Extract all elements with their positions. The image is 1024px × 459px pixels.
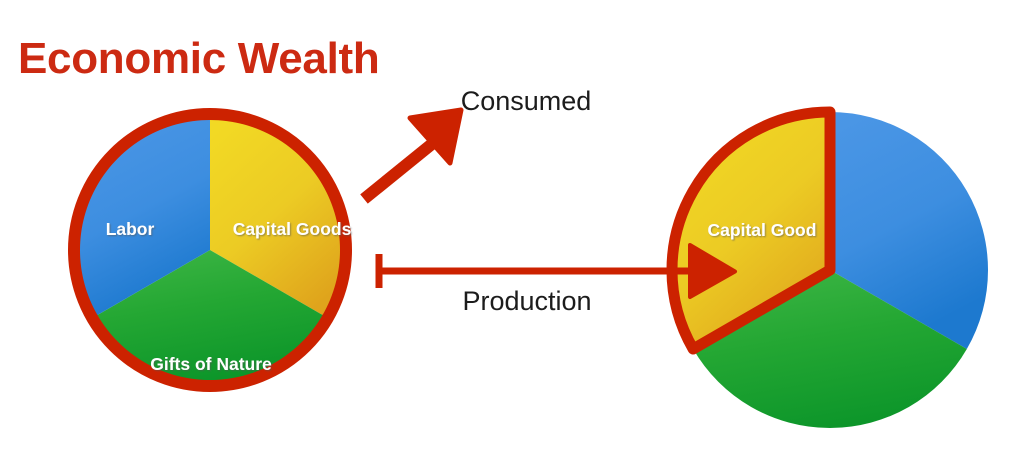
left-pie-chart: Capital Goods Gifts of Nature Labor: [75, 115, 352, 386]
consumed-arrow-label: Consumed: [461, 86, 592, 116]
economic-wealth-diagram: Economic Wealth Capital Goods Gifts of N…: [0, 0, 1024, 459]
production-arrow-label: Production: [462, 286, 591, 316]
left-slice-label-gifts-of-nature: Gifts of Nature: [150, 354, 272, 374]
diagram-canvas: Economic Wealth Capital Goods Gifts of N…: [0, 0, 1024, 459]
right-slice-label-capital-good: Capital Good: [708, 220, 817, 240]
left-slice-label-capital-goods: Capital Goods: [233, 219, 352, 239]
page-title: Economic Wealth: [18, 34, 379, 83]
left-slice-label-labor: Labor: [106, 219, 155, 239]
consumed-arrow: Consumed: [364, 86, 591, 199]
